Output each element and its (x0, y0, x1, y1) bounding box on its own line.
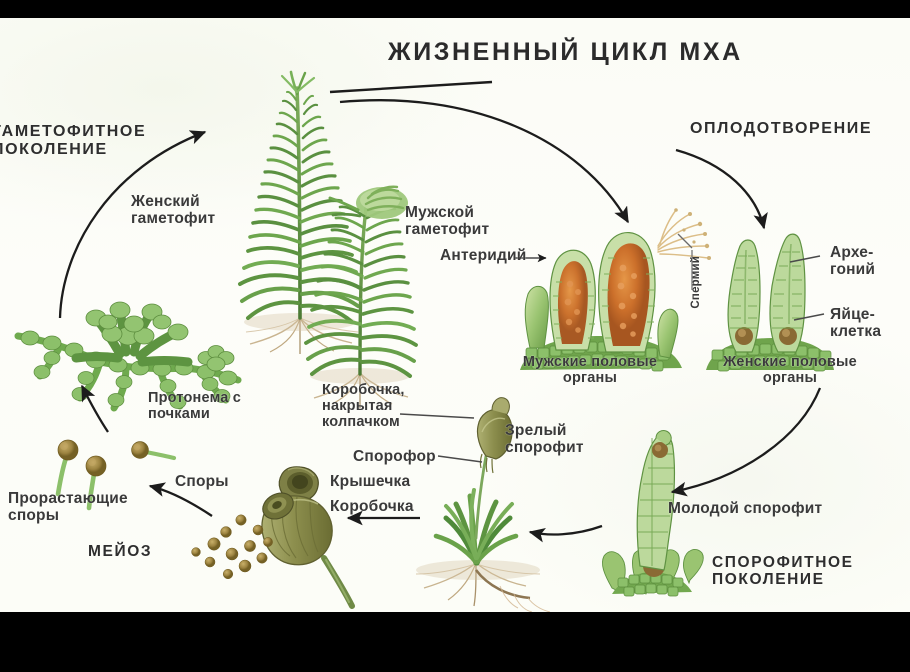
fertilization-label: ОПЛОДОТВОРЕНИЕ (690, 120, 872, 138)
female-organs-label: Женские половые органы (700, 354, 880, 386)
arrow-archegonia-to-young-sporophyte (672, 388, 820, 492)
sporophore-label: Спорофор (353, 448, 436, 465)
letterbox-bottom (0, 612, 910, 672)
spores-label: Споры (175, 473, 229, 490)
leader-title-rule (330, 82, 492, 92)
capsule-calyptra-label: Коробочка, накрытая колпачком (322, 382, 472, 431)
cycle-arrows (0, 18, 910, 612)
male-gametophyte-label: Мужской гаметофит (405, 204, 489, 239)
arrow-fertilization-to-archegonia (676, 150, 764, 228)
antheridium-label: Антеридий (440, 247, 526, 264)
young-sporophyte-label: Молодой спорофит (668, 500, 822, 517)
diagram-stage: ЖИЗНЕННЫЙ ЦИКЛ МХА ГАМЕТОФИТНОЕ ПОКОЛЕНИ… (0, 0, 910, 672)
protonema-label: Протонема с почками (148, 390, 241, 422)
diagram-canvas: ЖИЗНЕННЫЙ ЦИКЛ МХА ГАМЕТОФИТНОЕ ПОКОЛЕНИ… (0, 18, 910, 612)
gametophyte-generation-label: ГАМЕТОФИТНОЕ ПОКОЛЕНИЕ (0, 123, 146, 159)
arrow-young-to-mature-sporophyte (530, 526, 602, 534)
leader-sporophore (438, 456, 482, 462)
arrow-spores-to-germination (150, 486, 212, 516)
leader-archegonium (790, 256, 820, 262)
female-gametophyte-label: Женский гаметофит (131, 193, 215, 228)
male-organs-label: Мужские половые органы (500, 354, 680, 386)
letterbox-top (0, 0, 910, 18)
egg-cell-label: Яйце- клетка (830, 306, 881, 341)
sperm-label: Спермий (690, 256, 703, 309)
sporophyte-generation-label: СПОРОФИТНОЕ ПОКОЛЕНИЕ (712, 554, 854, 589)
capsule-label: Коробочка (330, 498, 414, 515)
meiosis-label: МЕЙОЗ (88, 543, 152, 560)
page-title: ЖИЗНЕННЫЙ ЦИКЛ МХА (388, 38, 743, 66)
archegonium-label: Архе- гоний (830, 244, 875, 279)
germinating-spores-label: Прорастающие споры (8, 490, 128, 525)
mature-sporophyte-label: Зрелый спорофит (505, 422, 615, 457)
leader-sperm (678, 234, 692, 248)
operculum-label: Крышечка (330, 473, 410, 490)
leader-egg-cell (794, 314, 824, 320)
arrow-germination-to-protonema (82, 386, 108, 432)
